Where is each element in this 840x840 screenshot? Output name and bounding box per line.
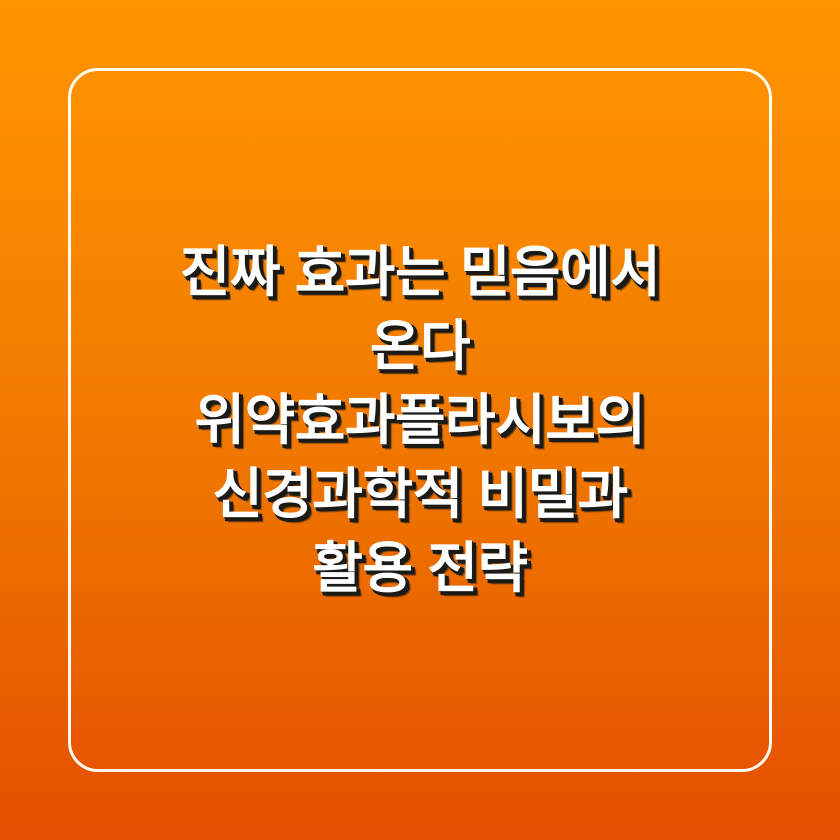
title-line-1: 진짜 효과는 믿음에서: [92, 235, 748, 309]
title-line-3: 위약효과플라시보의: [92, 383, 748, 457]
title-line-5: 활용 전략: [92, 531, 748, 605]
title-line-2: 온다: [92, 309, 748, 383]
thumbnail-card: 진짜 효과는 믿음에서 온다 위약효과플라시보의 신경과학적 비밀과 활용 전략: [0, 0, 840, 840]
title-line-4: 신경과학적 비밀과: [92, 457, 748, 531]
title-block: 진짜 효과는 믿음에서 온다 위약효과플라시보의 신경과학적 비밀과 활용 전략: [0, 0, 840, 840]
